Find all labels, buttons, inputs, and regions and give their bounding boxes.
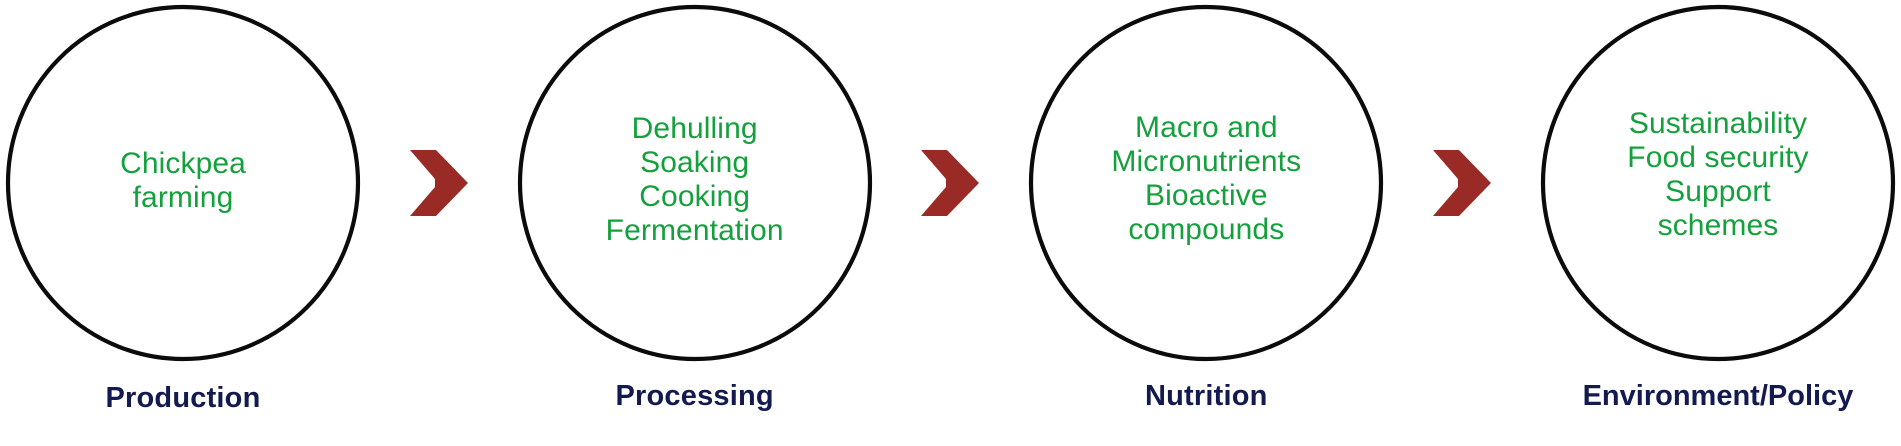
circle-processing[interactable]: Dehulling Soaking Cooking Fermentation — [512, 0, 878, 366]
chevron-right-icon — [1429, 146, 1495, 220]
chevron-right-icon — [917, 146, 983, 220]
stage-nutrition[interactable]: Macro and Micronutrients Bioactive compo… — [1023, 0, 1389, 446]
flow-row: Chickpea farming Production Dehulling So… — [0, 0, 1901, 446]
circle-production[interactable]: Chickpea farming — [0, 0, 366, 366]
stage-processing[interactable]: Dehulling Soaking Cooking Fermentation P… — [512, 0, 878, 446]
stage-environment-policy[interactable]: Sustainability Food security Support sch… — [1535, 0, 1901, 446]
circle-nutrition-text: Macro and Micronutrients Bioactive compo… — [1056, 111, 1356, 247]
connector-arrow-2 — [911, 0, 989, 366]
connector-arrow-1 — [400, 0, 478, 366]
connector-arrow-3 — [1423, 0, 1501, 366]
label-processing: Processing — [615, 380, 773, 413]
label-nutrition: Nutrition — [1145, 380, 1268, 413]
chevron-right-icon — [406, 146, 472, 220]
circle-environment-policy-text: Sustainability Food security Support sch… — [1568, 107, 1868, 243]
circle-production-text: Chickpea farming — [33, 147, 333, 215]
stage-production[interactable]: Chickpea farming Production — [0, 0, 366, 446]
label-production: Production — [105, 382, 260, 415]
circle-environment-policy[interactable]: Sustainability Food security Support sch… — [1535, 0, 1901, 366]
circle-nutrition[interactable]: Macro and Micronutrients Bioactive compo… — [1023, 0, 1389, 366]
label-environment-policy: Environment/Policy — [1583, 380, 1854, 413]
circle-processing-text: Dehulling Soaking Cooking Fermentation — [545, 112, 845, 248]
flow-diagram: Chickpea farming Production Dehulling So… — [0, 0, 1901, 446]
